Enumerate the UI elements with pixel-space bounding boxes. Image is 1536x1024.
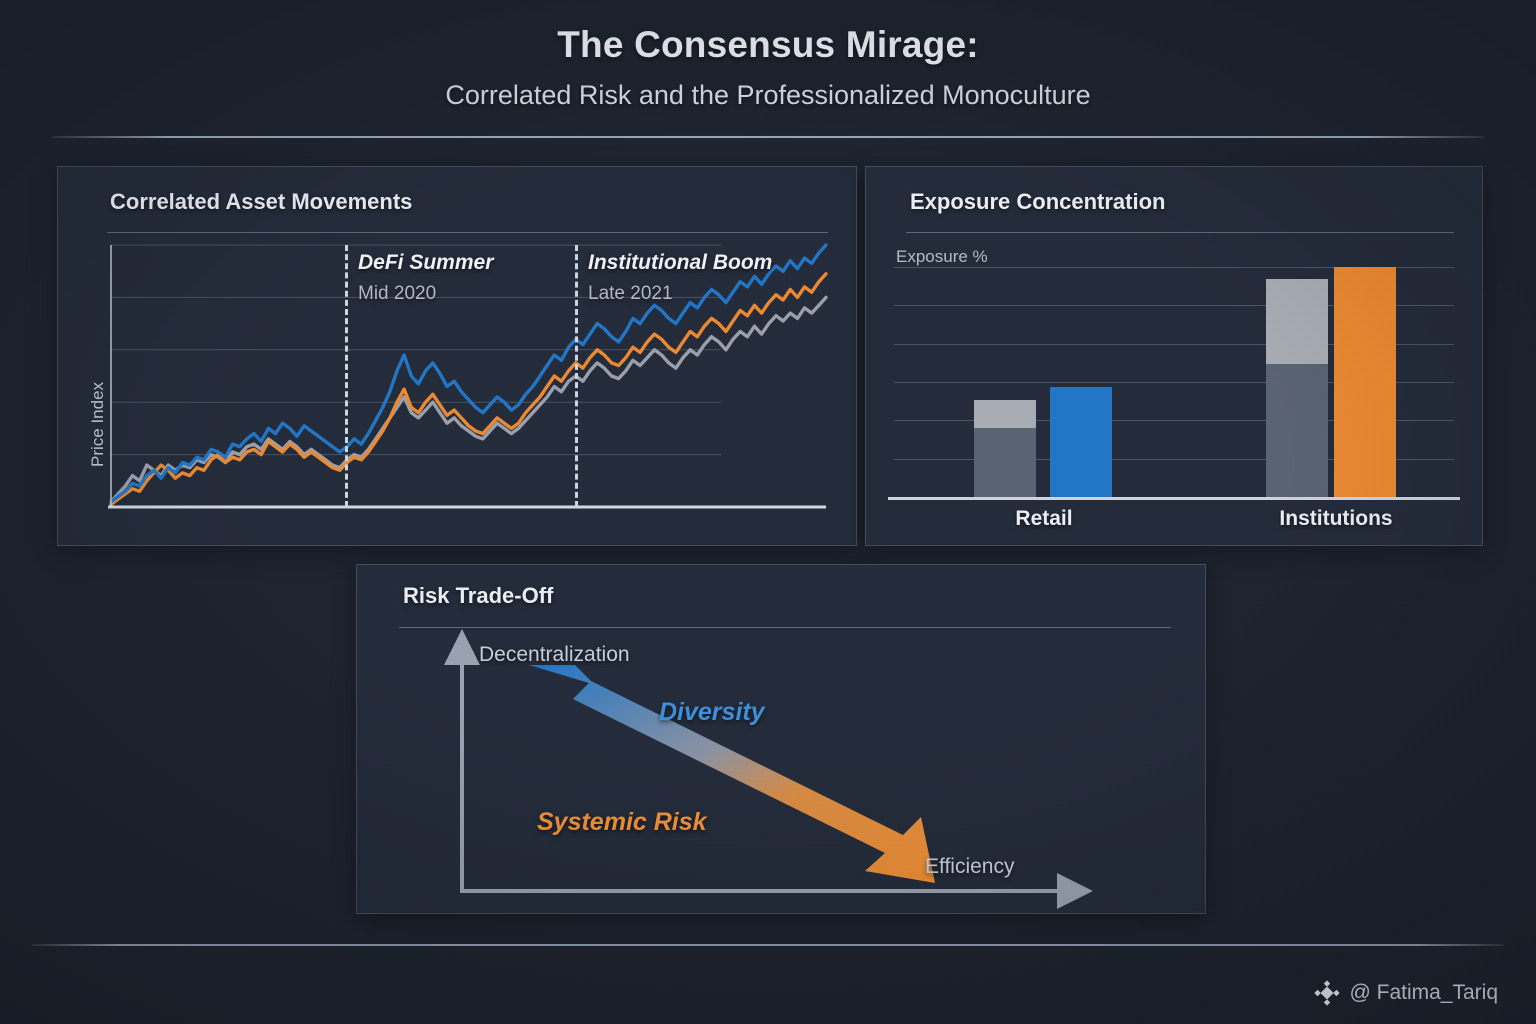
- line-chart-plot: [58, 167, 856, 545]
- annotation-institutional-boom-title: Institutional Boom: [588, 251, 772, 275]
- panel-title-bars: Exposure Concentration: [910, 189, 1165, 215]
- binance-diamond-icon: [1314, 980, 1340, 1006]
- annotation-institutional-boom: Institutional Boom Late 2021: [588, 251, 772, 305]
- bar-institutions-highlight: [1334, 267, 1396, 497]
- bar-retail-highlight: [1050, 387, 1112, 497]
- event-marker-institutional-boom: [575, 245, 578, 507]
- bar-institutions-gray-stacked: [1266, 279, 1328, 498]
- panel-title-divider-bars: [906, 232, 1454, 233]
- page-subtitle: Correlated Risk and the Professionalized…: [0, 80, 1536, 111]
- bar-segment-lower: [974, 428, 1036, 497]
- y-axis-label-exposure: Exposure %: [896, 247, 988, 267]
- panel-risk-trade-off: Risk Trade-Off Decent: [356, 564, 1206, 914]
- tradeoff-x-axis-label: Efficiency: [925, 855, 1015, 879]
- page-title: The Consensus Mirage:: [0, 24, 1536, 66]
- bar-baseline: [888, 497, 1460, 500]
- author-signature: @ Fatima_Tariq: [1314, 980, 1498, 1006]
- bar-segment-upper: [974, 400, 1036, 428]
- category-label-institutions: Institutions: [1236, 507, 1436, 531]
- tradeoff-diagram: [357, 565, 1205, 913]
- annotation-institutional-boom-date: Late 2021: [588, 283, 772, 305]
- event-marker-defi-summer: [345, 245, 348, 507]
- line-series: [111, 274, 826, 505]
- bar-retail-gray-stacked: [974, 400, 1036, 497]
- author-handle: @ Fatima_Tariq: [1349, 981, 1498, 1005]
- tradeoff-label-diversity: Diversity: [659, 698, 765, 727]
- category-label-retail: Retail: [954, 507, 1134, 531]
- footer-divider: [32, 944, 1504, 946]
- header-divider: [52, 136, 1484, 138]
- tradeoff-label-systemic-risk: Systemic Risk: [537, 808, 707, 837]
- annotation-defi-summer-date: Mid 2020: [358, 283, 493, 305]
- bar-segment-lower: [1266, 364, 1328, 497]
- annotation-defi-summer: DeFi Summer Mid 2020: [358, 251, 493, 305]
- panel-exposure-concentration: Exposure Concentration Exposure % Retail…: [865, 166, 1483, 546]
- bar-segment-upper: [1266, 279, 1328, 364]
- infographic-canvas: The Consensus Mirage: Correlated Risk an…: [0, 0, 1536, 1024]
- annotation-defi-summer-title: DeFi Summer: [358, 251, 493, 275]
- tradeoff-y-axis-label: Decentralization: [479, 643, 630, 667]
- panel-correlated-asset-movements: Correlated Asset Movements Price Index D…: [57, 166, 857, 546]
